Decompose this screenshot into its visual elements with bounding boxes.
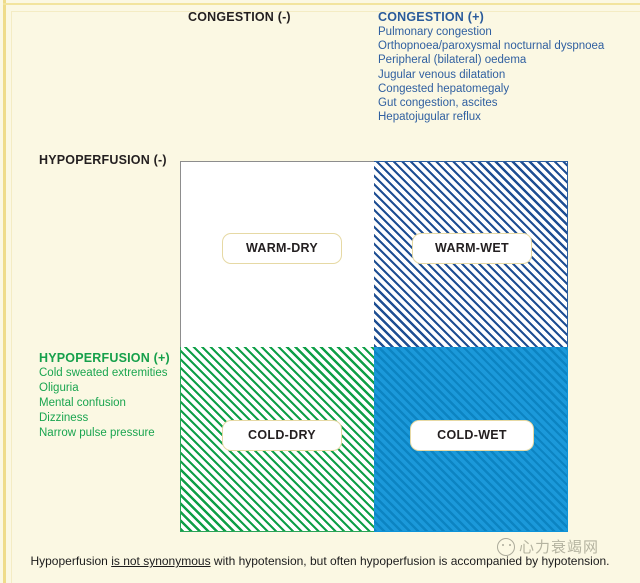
hypoperfusion-sign-item: Cold sweated extremities <box>39 366 189 381</box>
hypoperfusion-sign-item: Mental confusion <box>39 396 189 411</box>
axis-label-congestion-positive: CONGESTION (+) <box>378 10 636 24</box>
footnote-emphasis: is not synonymous <box>111 554 210 568</box>
axis-label-congestion-negative: CONGESTION (-) <box>188 10 291 24</box>
hypoperfusion-positive-block: HYPOPERFUSION (+) Cold sweated extremiti… <box>39 351 189 441</box>
quadrant-label-cold-wet: COLD-WET <box>410 420 534 451</box>
figure-root: CONGESTION (-) CONGESTION (+) Pulmonary … <box>0 0 640 583</box>
congestion-sign-item: Pulmonary congestion <box>378 25 636 39</box>
congestion-sign-item: Congested hepatomegaly <box>378 82 636 96</box>
congestion-sign-item: Gut congestion, ascites <box>378 96 636 110</box>
congestion-sign-item: Peripheral (bilateral) oedema <box>378 53 636 67</box>
quadrant-label-cold-dry: COLD-DRY <box>222 420 342 451</box>
congestion-sign-item: Jugular venous dilatation <box>378 68 636 82</box>
hypoperfusion-sign-item: Narrow pulse pressure <box>39 426 189 441</box>
frame-left-border <box>3 0 6 583</box>
congestion-sign-item: Orthopnoea/paroxysmal nocturnal dyspnoea <box>378 39 636 53</box>
quadrant-label-warm-wet: WARM-WET <box>412 233 532 264</box>
smiley-face-icon <box>497 538 515 556</box>
footnote-tail: with hypotension, but often hypoperfusio… <box>211 554 610 568</box>
congestion-positive-block: CONGESTION (+) Pulmonary congestion Orth… <box>378 10 636 124</box>
quadrant-matrix: WARM-DRY WARM-WET COLD-DRY COLD-WET <box>180 161 568 532</box>
quadrant-label-warm-dry: WARM-DRY <box>222 233 342 264</box>
axis-label-hypoperfusion-negative: HYPOPERFUSION (-) <box>39 153 167 167</box>
congestion-sign-item: Hepatojugular reflux <box>378 110 636 124</box>
figure-footnote: Hypoperfusion is not synonymous with hyp… <box>0 554 640 568</box>
footnote-lead: Hypoperfusion <box>30 554 111 568</box>
axis-label-hypoperfusion-positive: HYPOPERFUSION (+) <box>39 351 189 365</box>
hypoperfusion-sign-item: Dizziness <box>39 411 189 426</box>
frame-top-border <box>3 3 640 5</box>
hypoperfusion-sign-item: Oliguria <box>39 381 189 396</box>
